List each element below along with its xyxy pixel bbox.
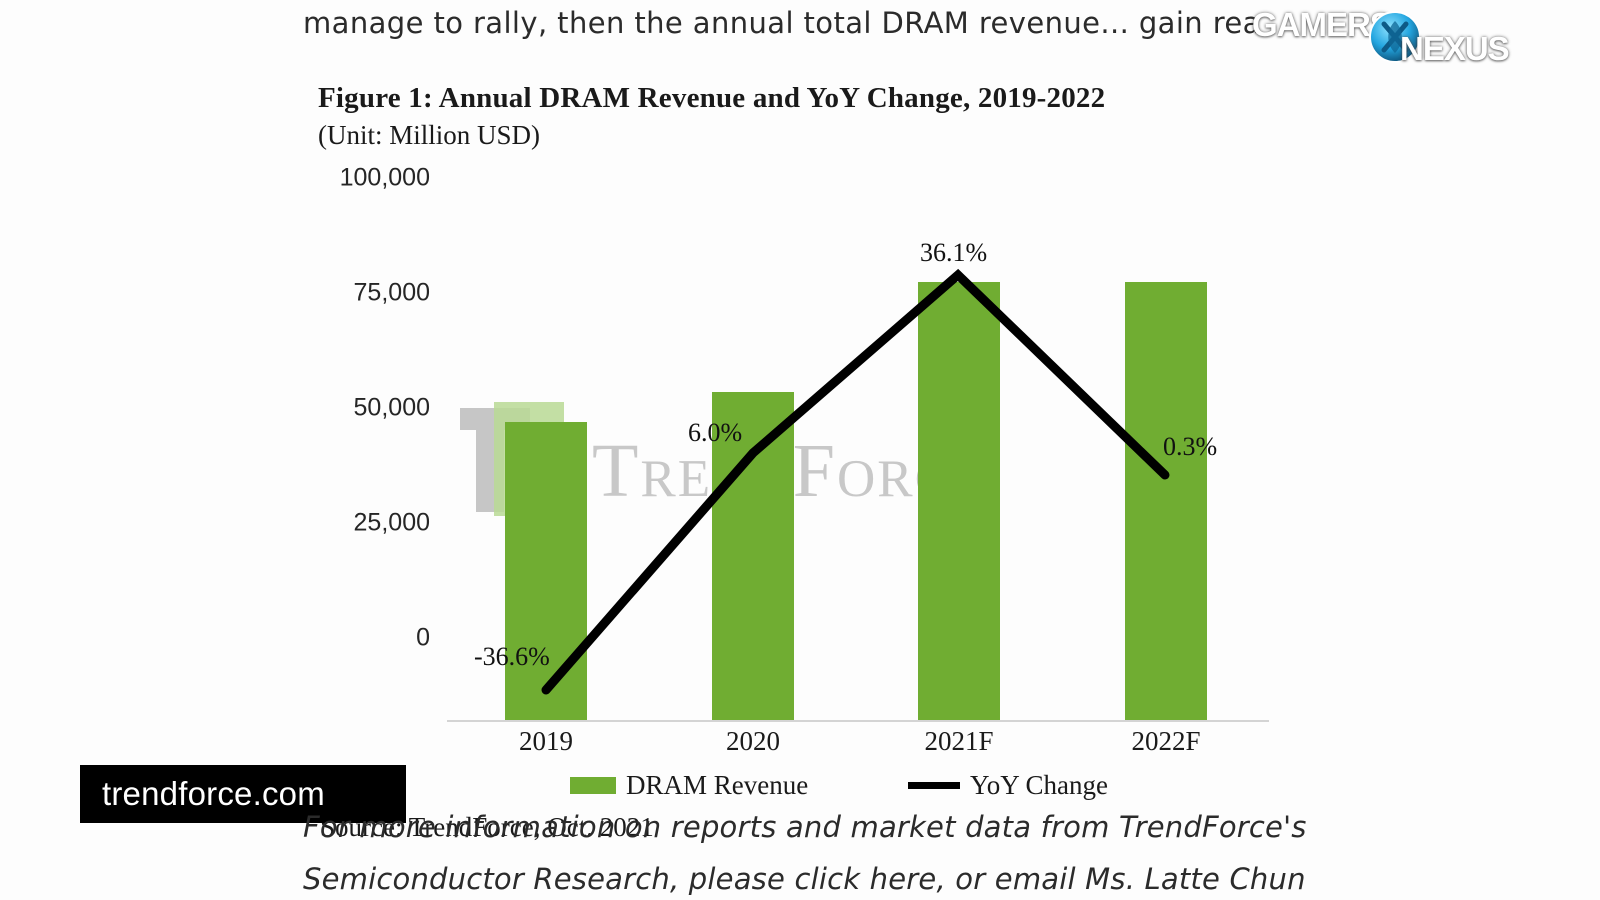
bar-2019 (505, 422, 587, 720)
data-label-2022f: 0.3% (1163, 432, 1217, 462)
y-axis: 100,000 75,000 50,000 25,000 0 (280, 70, 430, 710)
y-tick-label: 0 (280, 624, 430, 653)
data-label-2021f: 36.1% (920, 238, 987, 268)
chart-legend: DRAM Revenue YoY Change (570, 770, 1130, 808)
trendforce-url-label: trendforce.com (80, 775, 325, 813)
yoy-change-line-series (0, 70, 1320, 770)
data-label-2020: 6.0% (688, 418, 742, 448)
bar-2021f (918, 282, 1000, 720)
chart-plot-area: 100,000 75,000 50,000 25,000 0 TrendForc… (0, 70, 1320, 710)
bar-2022f (1125, 282, 1207, 720)
x-tick-label-2020: 2020 (673, 726, 833, 757)
chart-figure: Figure 1: Annual DRAM Revenue and YoY Ch… (0, 70, 1320, 790)
y-tick-label: 25,000 (280, 509, 430, 538)
article-top-text: manage to rally, then the annual total D… (303, 6, 1600, 40)
x-axis-line (447, 720, 1269, 722)
x-tick-label-2019: 2019 (466, 726, 626, 757)
data-label-2019: -36.6% (474, 642, 550, 672)
article-bottom-text-line-2: Semiconductor Research, please click her… (303, 862, 1600, 896)
legend-label-yoy-change: YoY Change (970, 770, 1108, 801)
legend-swatch-bar-icon (570, 777, 616, 794)
article-bottom-text-line-1: For more information on reports and mark… (303, 810, 1600, 844)
legend-swatch-line-icon (908, 782, 960, 789)
y-tick-label: 100,000 (280, 164, 430, 193)
x-tick-label-2021f: 2021F (879, 726, 1039, 757)
legend-item-yoy-change: YoY Change (908, 770, 1108, 801)
article-page: manage to rally, then the annual total D… (0, 0, 1600, 900)
y-tick-label: 50,000 (280, 394, 430, 423)
y-tick-label: 75,000 (280, 279, 430, 308)
x-tick-label-2022f: 2022F (1086, 726, 1246, 757)
legend-label-dram-revenue: DRAM Revenue (626, 770, 808, 801)
legend-item-dram-revenue: DRAM Revenue (570, 770, 808, 801)
